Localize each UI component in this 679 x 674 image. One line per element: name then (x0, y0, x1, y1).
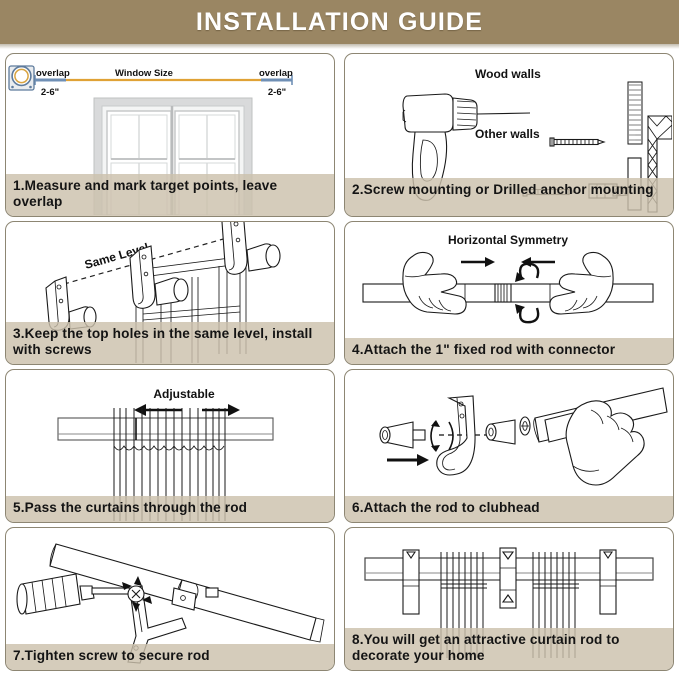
label-other-walls: Other walls (475, 127, 540, 141)
wood-screw-icon (550, 138, 604, 146)
step-caption-5: 5.Pass the curtains through the rod (6, 496, 334, 522)
screw-tighten-point (128, 586, 144, 602)
page-title: INSTALLATION GUIDE (196, 8, 483, 37)
rod-connector (495, 284, 511, 302)
label-window-size: Window Size (115, 68, 173, 79)
collar-washers (486, 417, 530, 444)
step-panel-4: Horizontal Symmetry (344, 221, 674, 365)
label-overlap-right: overlap (259, 68, 293, 79)
label-wood-walls: Wood walls (475, 67, 541, 81)
finial-cap (380, 422, 425, 448)
step-caption-2: 2.Screw mounting or Drilled anchor mount… (345, 178, 673, 216)
step-caption-7: 7.Tighten screw to secure rod (6, 644, 334, 670)
label-dim-right: 2-6" (268, 87, 286, 98)
step-panel-8: 8.You will get an attractive curtain rod… (344, 527, 674, 671)
step-panel-2: Wood walls Other walls 2.Screw mounting … (344, 53, 674, 217)
curtain-top-ripple (114, 446, 224, 450)
step-caption-8: 8.You will get an attractive curtain rod… (345, 628, 673, 670)
step-panel-7: 7.Tighten screw to secure rod (5, 527, 335, 671)
label-overlap-left: overlap (36, 68, 70, 79)
step-panel-1: overlap overlap Window Size 2-6" 2-6" 1.… (5, 53, 335, 217)
step-panel-3: Same Level (5, 221, 335, 365)
label-adjustable: Adjustable (153, 387, 215, 401)
label-horizontal-symmetry: Horizontal Symmetry (448, 233, 568, 247)
step-caption-3: 3.Keep the top holes in the same level, … (6, 322, 334, 364)
arrow-push-left (521, 257, 555, 267)
step-panel-6: 6.Attach the rod to clubhead (344, 369, 674, 523)
arrow-push-right (461, 257, 495, 267)
rod-finial-icon (9, 66, 34, 90)
bracket-right (222, 222, 280, 274)
page-header: INSTALLATION GUIDE (0, 0, 679, 44)
bracket-center (500, 548, 516, 608)
step-caption-4: 4.Attach the 1" fixed rod with connector (345, 338, 673, 364)
bracket-left (403, 550, 419, 614)
rod-tab (206, 588, 218, 597)
bracket-middle (130, 246, 188, 308)
wall-board-speckled (628, 82, 642, 144)
step-caption-1: 1.Measure and mark target points, leave … (6, 174, 334, 216)
step-panel-5: Adjustable (5, 369, 335, 523)
hand-right-icon (550, 252, 613, 314)
step-caption-6: 6.Attach the rod to clubhead (345, 496, 673, 522)
hand-left-icon (403, 252, 466, 314)
steps-grid: overlap overlap Window Size 2-6" 2-6" 1.… (0, 49, 679, 674)
arrow-slide-right (387, 454, 429, 466)
rotation-indicator (431, 420, 453, 452)
label-dim-left: 2-6" (41, 87, 59, 98)
bracket-right (600, 550, 616, 614)
